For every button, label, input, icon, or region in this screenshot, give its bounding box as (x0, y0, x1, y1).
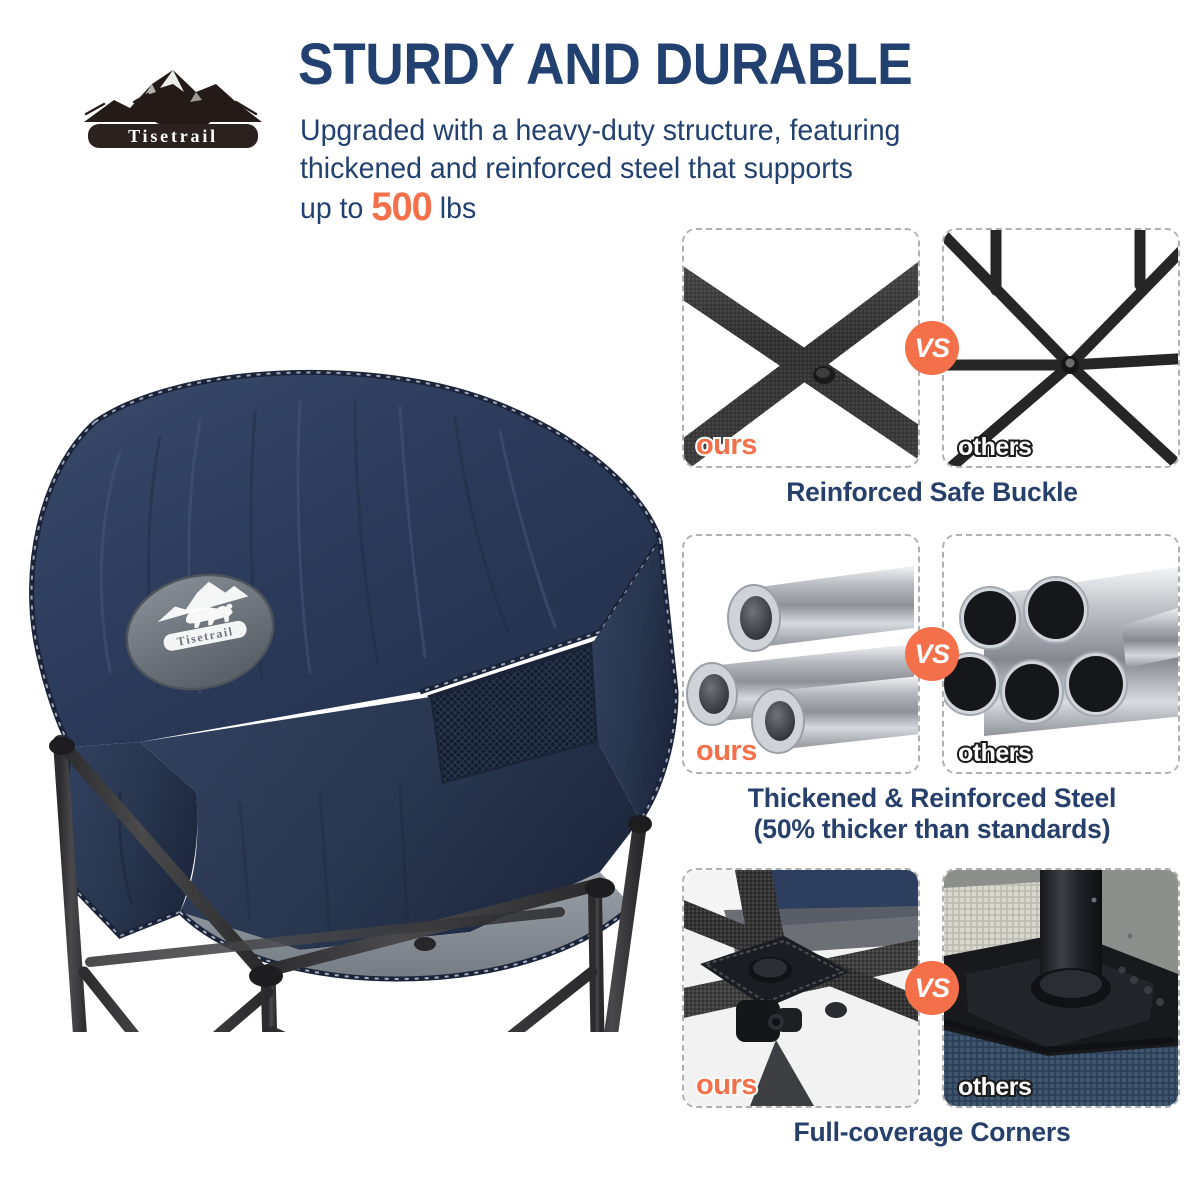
panel-others-corner[interactable]: others (942, 868, 1180, 1108)
panel-others-buckle[interactable]: others (942, 228, 1180, 468)
panel-others-steel[interactable]: others (942, 534, 1180, 774)
comparison-caption: Thickened & Reinforced Steel (50% thicke… (682, 783, 1182, 846)
vs-badge: VS (905, 961, 959, 1015)
panel-ours-corner[interactable]: ours (682, 868, 920, 1108)
page-title: STURDY AND DURABLE (298, 36, 912, 94)
subtitle-post: lbs (432, 192, 476, 225)
subtitle-line-2: thickened and reinforced steel that supp… (300, 150, 1060, 188)
infographic-page: Tisetrail STURDY AND DURABLE Upgraded wi… (0, 0, 1200, 1200)
vs-badge: VS (905, 321, 959, 375)
comparison-caption: Full-coverage Corners (682, 1117, 1182, 1148)
thin-lattice-frame-art (944, 230, 1178, 466)
comparison-row: ours (682, 534, 1182, 774)
subtitle-line-3: up to 500 lbs (300, 189, 1060, 228)
label-others: others (958, 435, 1031, 460)
caption-line: Thickened & Reinforced Steel (682, 783, 1182, 814)
mountain-bear-logo: Tisetrail (78, 62, 268, 157)
comparison-row: ours (682, 228, 1182, 468)
folding-chair-illustration: Tisetrail (0, 272, 690, 1032)
logo-wordmark: Tisetrail (128, 126, 218, 146)
weight-capacity-value: 500 (371, 185, 432, 229)
subtitle: Upgraded with a heavy-duty structure, fe… (300, 112, 1060, 228)
comparison-block-3: ours (682, 868, 1182, 1148)
label-ours: ours (696, 1071, 757, 1100)
comparison-row: ours (682, 868, 1182, 1108)
subtitle-line-1: Upgraded with a heavy-duty structure, fe… (300, 112, 1060, 150)
bare-pole-corner-art (944, 870, 1178, 1106)
label-others: others (958, 1075, 1031, 1100)
comparison-block-2: ours (682, 534, 1182, 846)
comparison-block-1: ours (682, 228, 1182, 508)
product-image: Tisetrail (0, 272, 690, 1032)
panel-ours-buckle[interactable]: ours (682, 228, 920, 468)
caption-line: (50% thicker than standards) (682, 814, 1182, 845)
comparison-caption: Reinforced Safe Buckle (682, 477, 1182, 508)
label-ours: ours (696, 431, 757, 460)
panel-ours-steel[interactable]: ours (682, 534, 920, 774)
caption-line: Reinforced Safe Buckle (682, 477, 1182, 508)
thin-wall-steel-tubes-art (944, 536, 1178, 772)
label-others: others (958, 741, 1031, 766)
caption-line: Full-coverage Corners (682, 1117, 1182, 1148)
brand-logo: Tisetrail (78, 62, 268, 157)
label-ours: ours (696, 737, 757, 766)
subtitle-pre: up to (300, 192, 371, 225)
vs-badge: VS (905, 627, 959, 681)
